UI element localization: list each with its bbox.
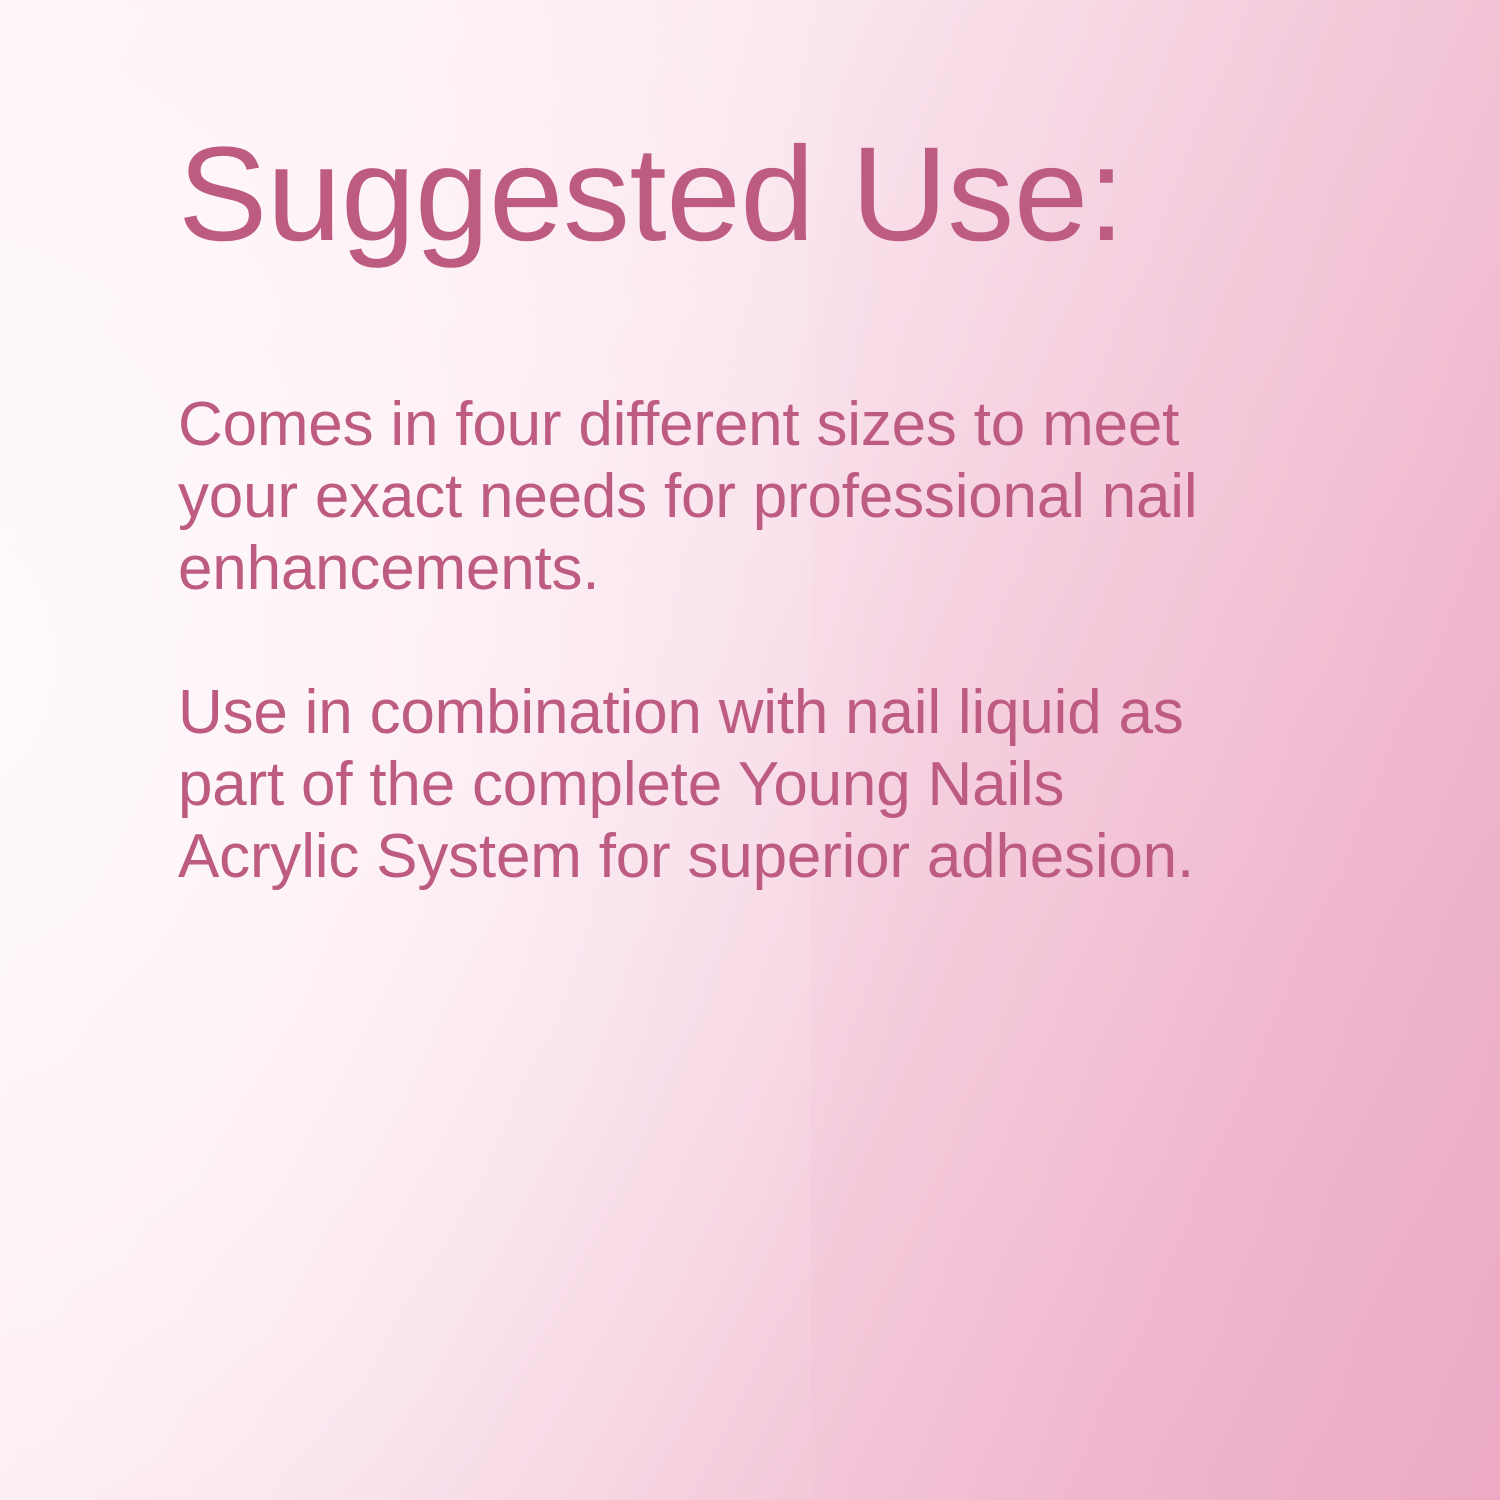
body-paragraph-usage: Use in combination with nail liquid as p… bbox=[178, 677, 1243, 893]
content-container: Suggested Use: Comes in four different s… bbox=[178, 128, 1253, 893]
suggested-use-panel: Suggested Use: Comes in four different s… bbox=[0, 0, 1500, 1500]
page-title: Suggested Use: bbox=[178, 128, 1253, 262]
body-paragraph-sizes: Comes in four different sizes to meet yo… bbox=[178, 389, 1243, 605]
